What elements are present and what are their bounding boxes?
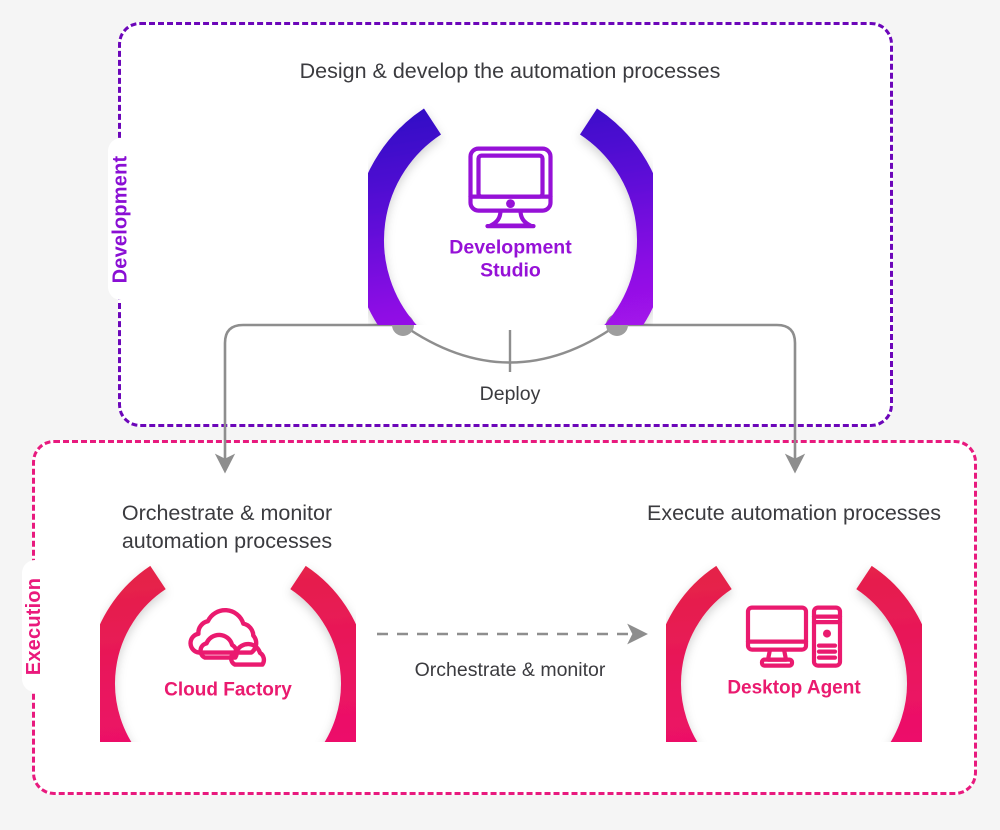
connector-label-orchestrate-monitor: Orchestrate & monitor	[390, 659, 630, 682]
diagram-canvas: Development Execution Design & develop t…	[0, 0, 1000, 830]
heading-cloud-factory: Orchestrate & monitor automation process…	[77, 500, 377, 555]
node-desktop-agent[interactable]: Desktop Agent	[666, 562, 922, 742]
node-cloud-factory[interactable]: Cloud Factory	[100, 562, 356, 742]
development-studio-ring	[368, 103, 653, 325]
cloud-factory-ring	[100, 562, 356, 742]
heading-development: Design & develop the automation processe…	[180, 58, 840, 86]
zone-label-execution: Execution	[22, 560, 48, 692]
zone-label-development: Development	[108, 138, 134, 300]
desktop-agent-ring	[666, 562, 922, 742]
zone-label-execution-text: Execution	[24, 577, 47, 674]
zone-label-development-text: Development	[110, 155, 133, 283]
connector-label-deploy: Deploy	[430, 383, 590, 406]
heading-desktop-agent: Execute automation processes	[644, 500, 944, 528]
node-development-studio[interactable]: Development Studio	[368, 103, 653, 325]
